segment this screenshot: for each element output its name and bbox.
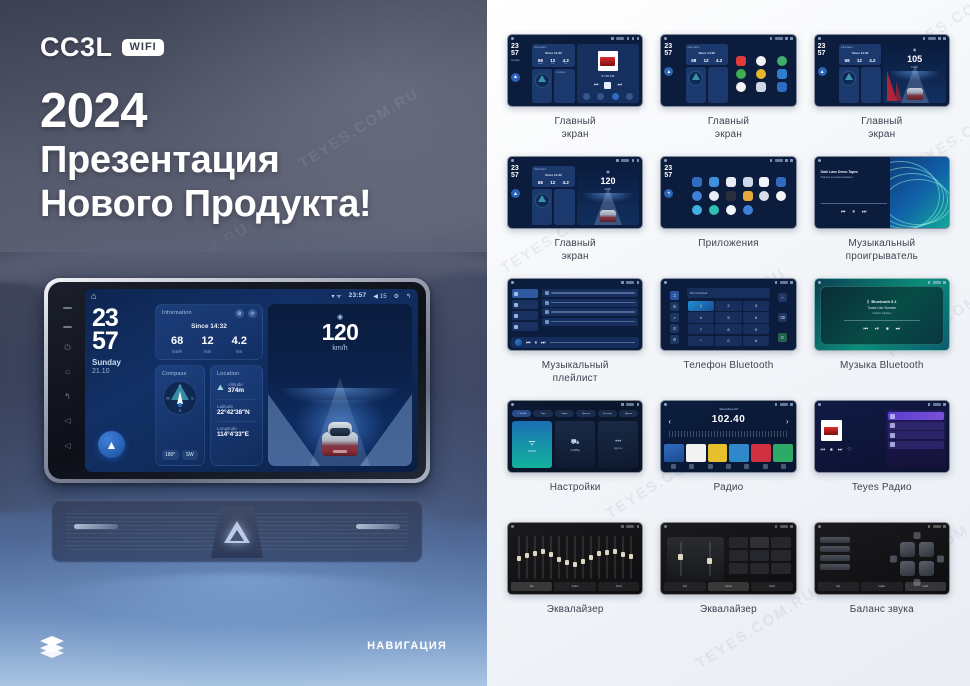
compass-cone [845, 73, 853, 80]
thumb-body: ⌗ ☰ ⌕ ✆ ⚙ Not Connected 123 456 789 [661, 286, 795, 350]
eq-band [526, 536, 528, 579]
music-player-card: 07:50 PM ⏮⏭ [577, 44, 640, 103]
stat-value: 4.2 [563, 180, 569, 185]
clock-icon [933, 403, 941, 406]
clock-icon [775, 159, 783, 162]
wifi-icon [928, 281, 931, 284]
navigation-label: НАВИГАЦИЯ [367, 640, 447, 652]
clock-icon [626, 403, 634, 406]
thumb-clock: 2357▲ [664, 44, 683, 103]
slider-knob [707, 558, 712, 564]
clock-icon [616, 37, 624, 40]
information-stats: 68 km/h 12 min 4.2 [162, 336, 256, 354]
display-icon: Экран [561, 413, 567, 415]
stop-icon [604, 82, 611, 89]
compass-center-dot [178, 403, 182, 407]
thumb-status-icons [616, 159, 639, 162]
wifi-icon: ᯤ [528, 437, 535, 448]
media-controls: ⏮⏸⏭ [821, 209, 887, 215]
thumbnail-radio[interactable]: Эквалайзер FM 102.40 ‹ › [660, 400, 796, 473]
quick-action-icon [597, 93, 604, 100]
compass-card [532, 189, 552, 225]
thumb-status-bar [815, 523, 949, 530]
carplay-icon: ⛟ [571, 438, 580, 447]
media-controls: ⏮⏹⏭♡ [821, 447, 882, 453]
thumbnail-sound-balance[interactable]: EQ Fader Field [814, 522, 950, 595]
wifi-icon [621, 281, 624, 284]
gear-icon [790, 403, 793, 406]
tab-system: Система [598, 410, 617, 417]
compass-card [532, 69, 552, 103]
thumbnail-cell[interactable]: EQ Fader Field Эквалайзер [660, 522, 796, 644]
settings-card-label: Другое [614, 447, 622, 450]
preset-button [771, 550, 790, 561]
mini-player-bar: ⏮⏸⏭ [511, 337, 639, 348]
stat-value: 4.2 [232, 336, 247, 347]
information-card: InformationSince 14:3268124.2 [686, 44, 728, 65]
preset-tile [686, 444, 706, 462]
stop-icon: ⏹ [830, 447, 833, 453]
thumbnail-settings[interactable]: ᯤ WLAN Звук Экран Прилож Система Другое … [507, 400, 643, 473]
album-icon [514, 314, 518, 318]
volume-icon [785, 37, 788, 40]
thumbnail-teyes-radio[interactable]: ⏮⏹⏭♡ [814, 400, 950, 473]
equalizer-tabs: EQ Fader Field [818, 582, 946, 591]
next-icon: ⏭ [896, 326, 901, 332]
tab-about: Другое [619, 410, 638, 417]
track-artist: Подписи на альбом нажмите [821, 176, 887, 179]
tab-label: EQ [837, 585, 841, 588]
app-item [757, 177, 772, 187]
eq-band [598, 536, 600, 579]
track-title-bar [551, 321, 635, 323]
thumb-status-bar [661, 157, 795, 164]
preset-button [750, 563, 769, 574]
thumbnail-cell[interactable]: ⏮⏸⏭ Музыкальныйплейлист [507, 278, 643, 400]
navigation-fab-button[interactable]: ▲ [98, 431, 125, 458]
location-latitude-row: Latitude 22°42'38"N [217, 399, 256, 416]
stat-value: 12 [550, 180, 555, 185]
stat-item: 68 km/h [171, 336, 183, 354]
thumb-lower-widgets [686, 67, 728, 103]
compass-title: Compass [162, 371, 198, 377]
location-card [554, 189, 574, 225]
tab-apps: Прилож [576, 410, 595, 417]
thumbnail-cell[interactable]: Dark Lane Demo Tapes Подписи на альбом н… [814, 156, 950, 278]
hw-minus-icon[interactable] [63, 307, 72, 309]
gear-icon [790, 37, 793, 40]
information-stats: 68124.2 [534, 180, 572, 185]
wifi-icon [775, 525, 778, 528]
thumb-status-icons [928, 403, 946, 406]
maps-icon [777, 56, 787, 66]
navigation-arrow-icon: ▲ [511, 189, 520, 198]
thumbnail-equalizer-bands[interactable]: EQ Fader Field [507, 522, 643, 595]
track-title-bar [551, 302, 635, 304]
app-item [723, 177, 738, 187]
eq-knob [565, 560, 569, 565]
thumb-status-icons [928, 281, 946, 284]
thumb-widgets: InformationSince 14:3268124.2 [532, 166, 574, 225]
navitel-icon [709, 177, 719, 187]
bluetooth-badge: ᛒBluetooth 5.1 [867, 299, 897, 304]
clock-icon [933, 281, 941, 284]
speed-icon: ◉ [606, 169, 610, 174]
stat-value: 4.2 [716, 58, 722, 63]
clock-minutes: 57 [664, 51, 683, 58]
tab-field: Field [905, 582, 946, 591]
gear-icon[interactable]: ⚙ [235, 309, 244, 318]
thumbnail-cell[interactable]: 2357▲ InformationSince 14:3268124.2 [660, 34, 796, 156]
thumb-widgets: InformationSince 14:3268124.2 [839, 44, 881, 103]
settings-cards: ᯤWLAN ⛟CarPlay •••Другое [512, 421, 638, 468]
power-icon[interactable]: ⏻ [64, 344, 70, 352]
eq-knob [517, 556, 521, 561]
volume-icon [938, 37, 941, 40]
thumb-status-icons [770, 159, 793, 162]
refresh-icon[interactable]: ⟳ [248, 309, 257, 318]
stat-item: 4.2 km [232, 336, 247, 354]
speed-widget[interactable]: ◉ 120 km/h [268, 304, 412, 466]
thumb-lower-widgets [532, 189, 574, 225]
app-item [706, 191, 721, 201]
information-since: Since 14:32 [162, 323, 256, 330]
home-icon [511, 525, 514, 528]
thumbnail-cell[interactable]: ᛒBluetooth 5.1 Toosie Like Summer Coldes… [814, 278, 950, 400]
dialer-area: Not Connected 123 456 789 *0# [687, 288, 770, 347]
clock-date: 21.10 [92, 368, 150, 377]
clock-widget[interactable]: 23 57 Sunday 21.10 ▲ [92, 304, 150, 466]
compass-heading: 180° [162, 450, 179, 460]
compass-cone [692, 73, 700, 80]
thumb-body: 2357▲ InformationSince 14:3268124.2 [661, 42, 795, 106]
thumb-status-icons [775, 403, 793, 406]
gear-icon [637, 403, 640, 406]
eq-knob [549, 552, 553, 557]
sidebar-item-dialpad: ⌗ [670, 291, 679, 300]
next-icon: ⏭ [838, 447, 843, 453]
information-since: Since 14:32 [688, 51, 726, 55]
quick-actions [580, 93, 637, 100]
volume-level: 15 [380, 294, 387, 300]
thumbnail-playlist[interactable]: ⏮⏸⏭ [507, 278, 643, 351]
thumbnail-label: Настройки [550, 482, 601, 495]
clock-minutes: 57 [92, 330, 150, 353]
spotify-icon [736, 69, 746, 79]
app-item [690, 191, 705, 201]
app-item [774, 177, 789, 187]
thumb-status-icons [775, 281, 793, 284]
information-card-icons: ⚙ ⟳ [235, 309, 257, 318]
chrome-icon [692, 191, 702, 201]
youtube-icon [736, 56, 746, 66]
preset-button [820, 546, 850, 552]
volume-down-icon[interactable]: ◁ [64, 417, 70, 425]
dial-key-4: 4 [688, 312, 714, 322]
app-item [740, 191, 755, 201]
list-item [888, 412, 944, 420]
bluetooth-now-playing-card: ᛒBluetooth 5.1 Toosie Like Summer Coldes… [820, 286, 944, 345]
speed-value: 105 [907, 54, 922, 64]
eq-band [606, 536, 608, 579]
feature-grid-panel: TEYES.COM.RU TEYES.COM.RU TEYES.COM.RU T… [487, 0, 970, 686]
track-title-bar [551, 292, 635, 294]
lower-widgets-row: Compass N S W E [155, 365, 263, 466]
dial-key-6: 6 [743, 312, 769, 322]
preset-button [750, 550, 769, 561]
center-console-vents [52, 500, 422, 562]
location-card [708, 67, 728, 103]
app-item [706, 177, 721, 187]
media-controls: ⏮⏯⏹⏭ [864, 326, 901, 332]
stat-unit: km/h [538, 63, 543, 65]
apps-icon: Прилож [582, 413, 590, 415]
system-icon: Система [603, 413, 612, 415]
thumb-clock: 2357Sunday▲ [511, 44, 530, 103]
navigation-arrow-icon: ▲ [664, 67, 673, 76]
thumbnail-apps[interactable]: 2357↰ [660, 156, 796, 229]
location-card [861, 67, 881, 103]
navigation-arrow-icon: ▲ [511, 73, 520, 82]
clock-icon [621, 159, 629, 162]
sidebar-item-tracks [512, 289, 538, 298]
track-icon [545, 301, 549, 305]
thumb-status-bar [661, 35, 795, 42]
thumbnail-cell[interactable]: 2357▲ InformationSince 14:3268124.2 ◉ 12… [507, 156, 643, 278]
speed-value: 120 [600, 176, 615, 186]
thumbnail-label: Главныйэкран [555, 238, 596, 263]
compass-label-n: N [179, 383, 182, 388]
home-icon[interactable]: ⌂ [91, 292, 96, 301]
track-icon [545, 291, 549, 295]
tab-label: EQ [683, 585, 687, 588]
thumbnail-music-player[interactable]: Dark Lane Demo Tapes Подписи на альбом н… [814, 156, 950, 229]
gear-icon [943, 525, 946, 528]
wifi-icon [923, 37, 926, 40]
quick-action-icon [583, 93, 590, 100]
album-art-inner [600, 57, 615, 66]
eq-knob [541, 549, 545, 554]
wifi-icon [770, 37, 773, 40]
information-title: Information [534, 168, 572, 171]
stat-value: 68 [691, 58, 696, 63]
tab-label: Field [922, 585, 928, 588]
thumb-status-icons [621, 281, 639, 284]
thumb-lower-widgets: Location [532, 69, 574, 103]
app-drawer [686, 166, 793, 225]
contacts-icon [756, 69, 766, 79]
thumb-status-bar [661, 279, 795, 286]
compass-rose: N S W E [163, 381, 197, 415]
stat-unit: km/h [171, 349, 183, 354]
previous-icon: ⏮ [821, 447, 826, 453]
preset-button [820, 537, 850, 543]
slider-track [709, 542, 711, 575]
compass-label-w: W [166, 396, 170, 401]
track-time: 07:50 PM [580, 74, 637, 78]
navigation-arrow-icon: ▲ [106, 439, 118, 451]
thumb-body: ⏮⏹⏭♡ [815, 408, 949, 472]
calculator-icon [743, 177, 753, 187]
album-art-inner [824, 427, 838, 435]
thumbnail-home-apps[interactable]: 2357▲ InformationSince 14:3268124.2 [660, 34, 796, 107]
hero-footer: НАВИГАЦИЯ [0, 636, 487, 656]
eq-band [614, 536, 616, 579]
phone-number-field: Not Connected [687, 288, 770, 298]
thumbnail-label: Главныйэкран [708, 116, 749, 141]
preset-grid [729, 537, 791, 574]
apps-icon [781, 464, 786, 469]
volume-icon [632, 159, 635, 162]
volume-up-icon[interactable]: ◁ [64, 442, 70, 450]
dial-pad: 123 456 789 *0# [687, 300, 770, 348]
screen-body: 23 57 Sunday 21.10 ▲ Information [85, 304, 418, 472]
location-card[interactable]: Location ⛰ Altitude 374m [210, 365, 263, 466]
thumbnail-home-road-red[interactable]: 2357▲ InformationSince 14:3268124.2 ◉ 10… [814, 34, 950, 107]
preset-tiles [664, 444, 792, 462]
speaker-rear-left [900, 561, 915, 576]
thumbnail-cell[interactable]: 2357Sunday▲ InformationSince 14:3268km/h… [507, 34, 643, 156]
station-icon [890, 442, 895, 447]
thumbnail-home-music[interactable]: 2357Sunday▲ InformationSince 14:3268km/h… [507, 34, 643, 107]
information-card: InformationSince 14:3268124.2 [532, 166, 574, 187]
information-stats: 68124.2 [688, 58, 726, 63]
app-item [723, 191, 738, 201]
eq-knob [573, 562, 577, 567]
sidebar-item-artists [512, 300, 538, 309]
dial-key-0: 0 [715, 336, 741, 346]
thumbnail-bluetooth-phone[interactable]: ⌗ ☰ ⌕ ✆ ⚙ Not Connected 123 456 789 [660, 278, 796, 351]
progress-bar [821, 203, 887, 204]
dashboard-scene: ⏻ ⌂ ↰ ◁ ◁ ⌂ ▾ ᯤ 23:57 ◀15 [0, 252, 487, 686]
back-icon[interactable]: ↰ [406, 294, 411, 300]
home-icon [511, 403, 514, 406]
headline-line-2: Нового Продукта! [40, 182, 371, 226]
back-icon[interactable]: ↰ [64, 393, 71, 401]
head-unit-device: ⏻ ⌂ ↰ ◁ ◁ ⌂ ▾ ᯤ 23:57 ◀15 [44, 278, 430, 483]
location-card: Location [554, 69, 574, 103]
clock-minutes: 57 [664, 173, 683, 180]
thumb-status-icons [775, 525, 793, 528]
stat-unit: km [232, 349, 247, 354]
thumbnail-cell[interactable]: ⌗ ☰ ⌕ ✆ ⚙ Not Connected 123 456 789 [660, 278, 796, 400]
eq-knob [589, 555, 593, 560]
now-playing: Dark Lane Demo Tapes Подписи на альбом н… [818, 166, 890, 225]
phone-sidebar: ⌗ ☰ ⌕ ✆ ⚙ [664, 288, 685, 347]
headline-year: 2024 [40, 86, 371, 138]
hw-plus-icon[interactable] [63, 326, 72, 328]
thumb-body: 2357↰ [661, 164, 795, 228]
thumbnail-label: Музыкальныйпроигрыватель [846, 238, 918, 263]
thumbnail-home-road[interactable]: 2357▲ InformationSince 14:3268124.2 ◉ 12… [507, 156, 643, 229]
thumbnail-bluetooth-music[interactable]: ᛒBluetooth 5.1 Toosie Like Summer Coldes… [814, 278, 950, 351]
home-icon [818, 281, 821, 284]
speed-widget: ◉ 105 km/h [883, 44, 946, 103]
volume-icon[interactable]: ◀15 [373, 294, 386, 300]
slider-track [680, 542, 682, 575]
vent-slot-left [74, 524, 118, 529]
thumbnail-cell[interactable]: EQ Fader Field Баланс звука [814, 522, 950, 644]
gear-icon [632, 37, 635, 40]
eq-knob [629, 554, 633, 559]
gear-icon[interactable]: ⚙ [394, 294, 399, 300]
previous-icon: ⏮ [864, 326, 869, 332]
apps-grid-icon [756, 82, 766, 92]
thumbnail-label: Приложения [698, 238, 759, 251]
home-icon [818, 37, 821, 40]
previous-icon: ⏮ [594, 82, 599, 89]
eq-band [542, 536, 544, 579]
thumbnail-cell[interactable]: 2357▲ InformationSince 14:3268124.2 ◉ 10… [814, 34, 950, 156]
compass-rose [535, 193, 550, 208]
artist-icon [514, 303, 518, 307]
balance-up-icon [913, 532, 920, 539]
phone-number-value: Not Connected [690, 292, 707, 295]
track-title: Dark Lane Demo Tapes [821, 170, 887, 174]
compass-readouts: 180° SW [162, 450, 198, 460]
brand-logo: CC3L WIFI [40, 32, 164, 63]
dial-key-7: 7 [688, 324, 714, 334]
hardware-button-column[interactable]: ⏻ ⌂ ↰ ◁ ◁ [55, 289, 80, 472]
more-icon: ••• [615, 439, 621, 445]
home-icon[interactable]: ⌂ [65, 368, 70, 376]
compass-rose [841, 71, 856, 86]
thumb-status-icons [611, 37, 639, 40]
speaker-rear-right [919, 561, 934, 576]
thumbnail-equalizer-simple[interactable]: EQ Fader Field [660, 522, 796, 595]
preset-tile [664, 444, 684, 462]
thumbnail-label: Баланс звука [850, 604, 914, 617]
information-stats: 68124.2 [841, 58, 879, 63]
thumb-status-bar [661, 523, 795, 530]
radio-icon [743, 205, 753, 215]
thumbnail-cell[interactable]: ᯤ WLAN Звук Экран Прилож Система Другое … [507, 400, 643, 522]
clock-weekday: Sunday [511, 59, 530, 62]
thumbnail-cell[interactable]: EQ Fader Field Эквалайзер [507, 522, 643, 644]
previous-icon: ⏮ [526, 340, 531, 346]
head-unit-screen[interactable]: ⌂ ▾ ᯤ 23:57 ◀15 ⚙ ↰ [85, 289, 418, 472]
list-icon [708, 464, 713, 469]
sound-icon: Звук [541, 413, 546, 415]
widgets-column: Information ⚙ ⟳ Since 14:32 68 [155, 304, 263, 466]
stat-value: 12 [704, 58, 709, 63]
home-icon [818, 525, 821, 528]
equalizer-icon [726, 464, 731, 469]
stat-unit: km [563, 63, 569, 65]
thumbnail-cell[interactable]: Эквалайзер FM 102.40 ‹ › Радио [660, 400, 796, 522]
thumb-status-icons [923, 37, 946, 40]
eq-knob [525, 553, 529, 558]
compass-card[interactable]: Compass N S W E [155, 365, 205, 466]
information-card[interactable]: Information ⚙ ⟳ Since 14:32 68 [155, 304, 263, 360]
list-item [888, 441, 944, 449]
thumb-body: 2357Sunday▲ InformationSince 14:3268km/h… [508, 42, 642, 106]
compass-rose [535, 73, 550, 88]
console-glow [30, 574, 457, 632]
thumbnail-cell[interactable]: 2357↰ [660, 156, 796, 278]
thumbnail-cell[interactable]: ⏮⏹⏭♡ Teyes Радио [814, 400, 950, 522]
tab-label: Field [616, 585, 622, 588]
stat-value: 68 [845, 58, 850, 63]
sidebar-item-search: ⌕ [670, 313, 679, 322]
gear-icon [790, 159, 793, 162]
thumb-status-icons [621, 403, 639, 406]
clock-icon [933, 525, 941, 528]
album-art [821, 420, 842, 441]
thumb-widgets: InformationSince 14:3268km/h12min4.2km L… [532, 44, 574, 103]
volume-icon [785, 159, 788, 162]
next-icon: ⏭ [617, 82, 622, 89]
